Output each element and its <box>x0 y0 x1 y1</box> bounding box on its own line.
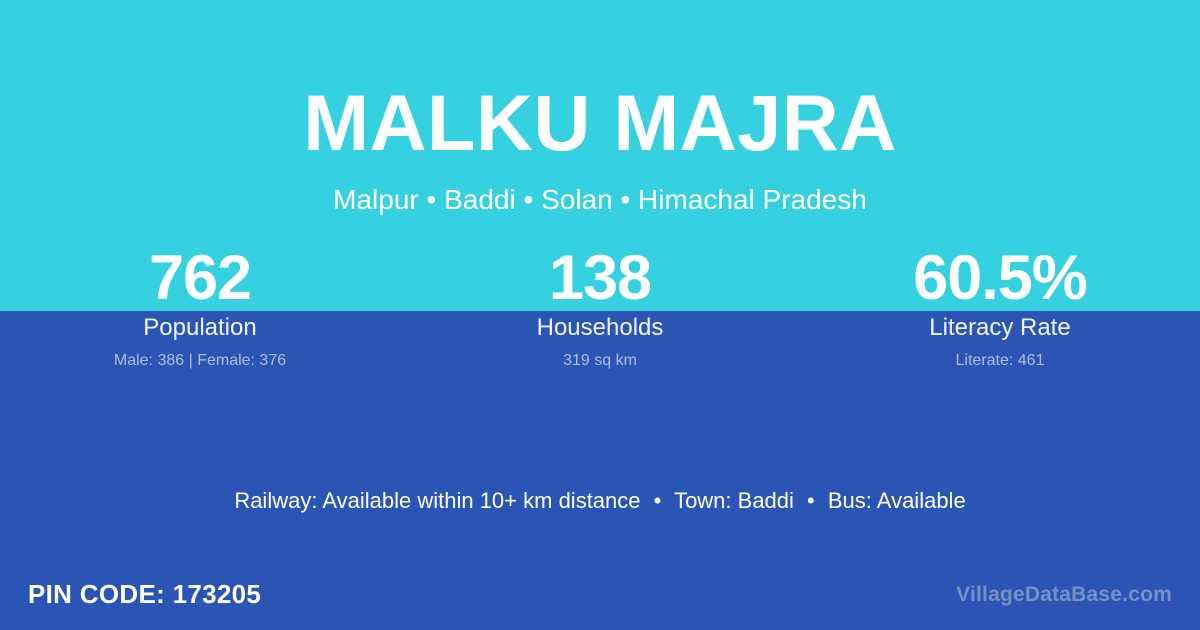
info-separator-dot: • <box>800 488 822 513</box>
info-separator-dot: • <box>647 488 669 513</box>
info-railway: Railway: Available within 10+ km distanc… <box>234 488 640 513</box>
page-title: MALKU MAJRA <box>0 79 1200 167</box>
village-info-card: MALKU MAJRA Malpur • Baddi • Solan • Him… <box>0 0 1200 630</box>
stat-value-households: 138 <box>400 245 800 311</box>
stat-sub-population: Male: 386 | Female: 376 <box>0 351 400 370</box>
info-town: Town: Baddi <box>674 488 794 513</box>
card-footer: PIN CODE: 173205 VillageDataBase.com <box>0 575 1200 630</box>
stat-literacy-rate: 60.5% Literacy Rate Literate: 461 <box>800 245 1200 370</box>
stat-households: 138 Households 319 sq km <box>400 245 800 370</box>
infrastructure-info-line: Railway: Available within 10+ km distanc… <box>0 487 1200 514</box>
stat-label-households: Households <box>400 314 800 342</box>
stat-label-literacy-rate: Literacy Rate <box>800 314 1200 342</box>
stat-sub-households: 319 sq km <box>400 351 800 370</box>
stat-sub-literacy-rate: Literate: 461 <box>800 351 1200 370</box>
site-watermark: VillageDataBase.com <box>956 582 1172 608</box>
stat-population: 762 Population Male: 386 | Female: 376 <box>0 245 400 370</box>
info-bus: Bus: Available <box>828 488 966 513</box>
stat-label-population: Population <box>0 314 400 342</box>
stat-value-population: 762 <box>0 245 400 311</box>
stat-value-literacy-rate: 60.5% <box>800 245 1200 311</box>
breadcrumb: Malpur • Baddi • Solan • Himachal Prades… <box>0 183 1200 217</box>
stats-row: 762 Population Male: 386 | Female: 376 1… <box>0 245 1200 370</box>
pin-code-label: PIN CODE: 173205 <box>28 578 261 610</box>
